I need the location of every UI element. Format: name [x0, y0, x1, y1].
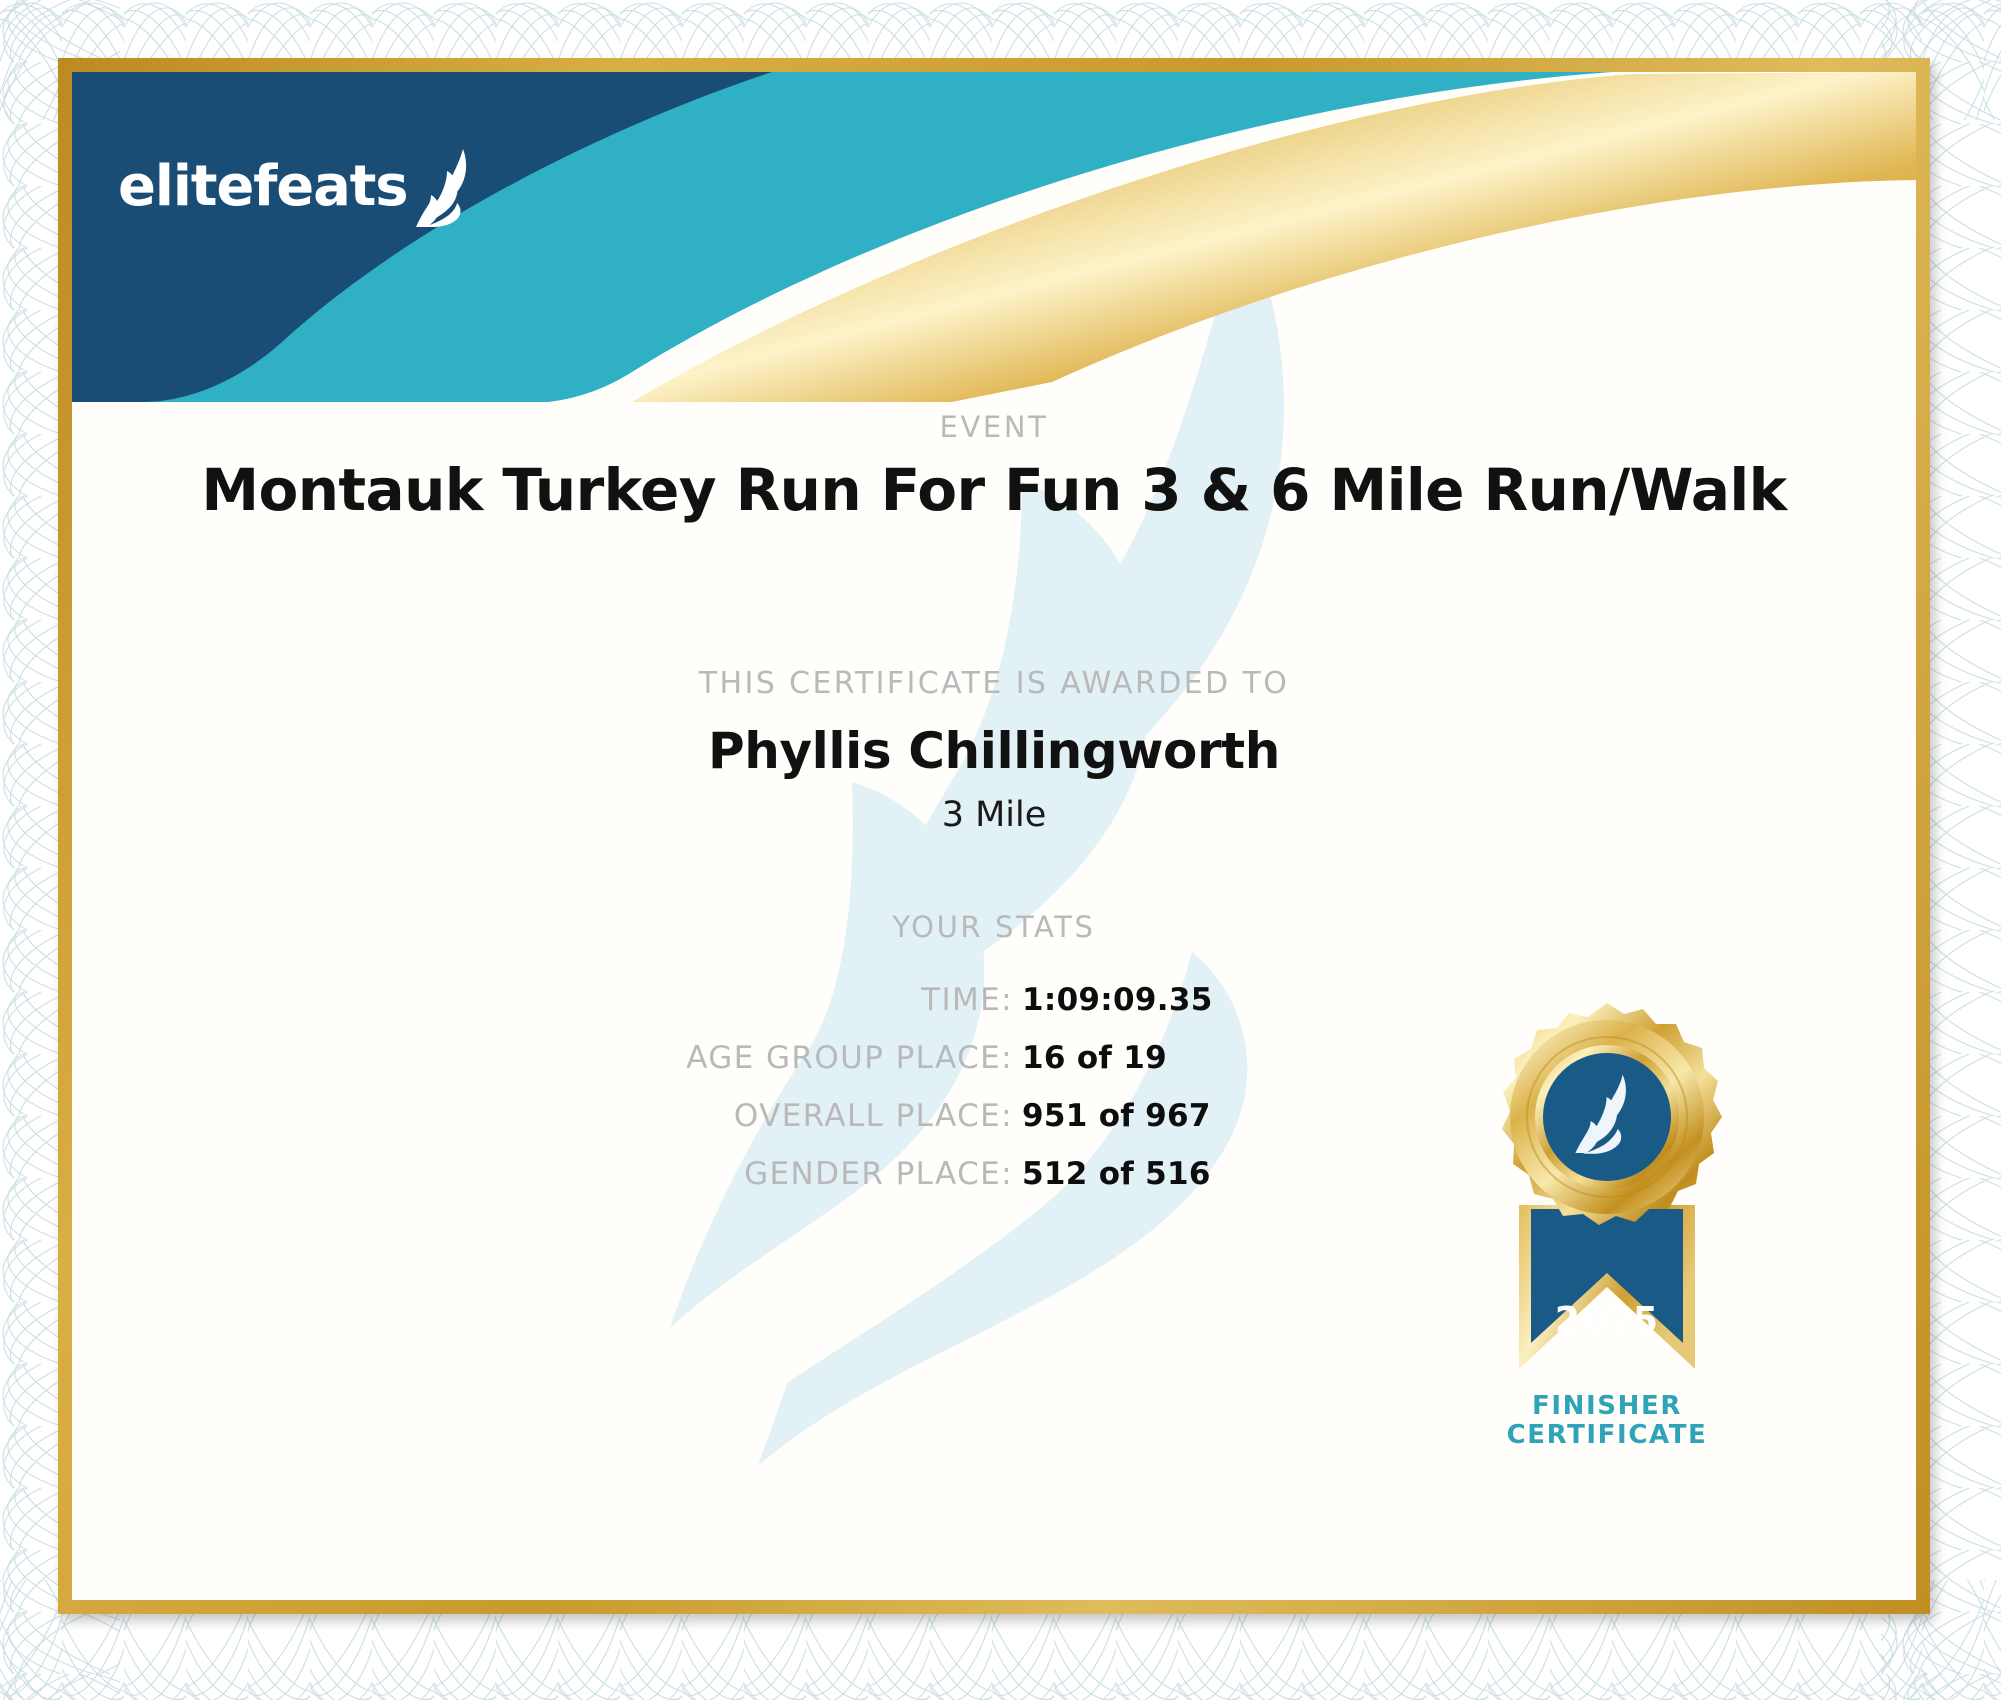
certificate-frame: elitefeats EVENT Montauk Turkey Run For …: [58, 58, 1930, 1614]
badge-caption-line1: FINISHER: [1457, 1392, 1757, 1421]
wing-watermark-icon: [552, 182, 1452, 1502]
brand-logo-text: elitefeats: [118, 159, 407, 215]
stat-key: TIME:: [72, 982, 1022, 1018]
event-label: EVENT: [72, 410, 1916, 444]
stat-key: AGE GROUP PLACE:: [72, 1040, 1022, 1076]
header-swoosh-art: [72, 72, 1916, 402]
badge-caption: FINISHER CERTIFICATE: [1457, 1392, 1757, 1450]
recipient-name: Phyllis Chillingworth: [72, 722, 1916, 780]
winged-foot-icon: [413, 147, 479, 227]
badge-year-text: 2025: [1555, 1300, 1659, 1341]
finisher-medal-badge: 2025 FINISHER CERTIFICATE: [1457, 997, 1757, 1477]
stat-key: OVERALL PLACE:: [72, 1098, 1022, 1134]
certificate-body: elitefeats EVENT Montauk Turkey Run For …: [72, 72, 1916, 1600]
brand-logo: elitefeats: [118, 147, 479, 227]
awarded-to-label: THIS CERTIFICATE IS AWARDED TO: [72, 666, 1916, 701]
recipient-distance: 3 Mile: [72, 795, 1916, 835]
badge-caption-line2: CERTIFICATE: [1457, 1421, 1757, 1450]
event-title: Montauk Turkey Run For Fun 3 & 6 Mile Ru…: [72, 456, 1916, 524]
medal-ribbon-icon: 2025: [1457, 997, 1757, 1397]
certificate-page: elitefeats EVENT Montauk Turkey Run For …: [0, 0, 2001, 1700]
stat-key: GENDER PLACE:: [72, 1156, 1022, 1192]
your-stats-label: YOUR STATS: [72, 910, 1916, 944]
